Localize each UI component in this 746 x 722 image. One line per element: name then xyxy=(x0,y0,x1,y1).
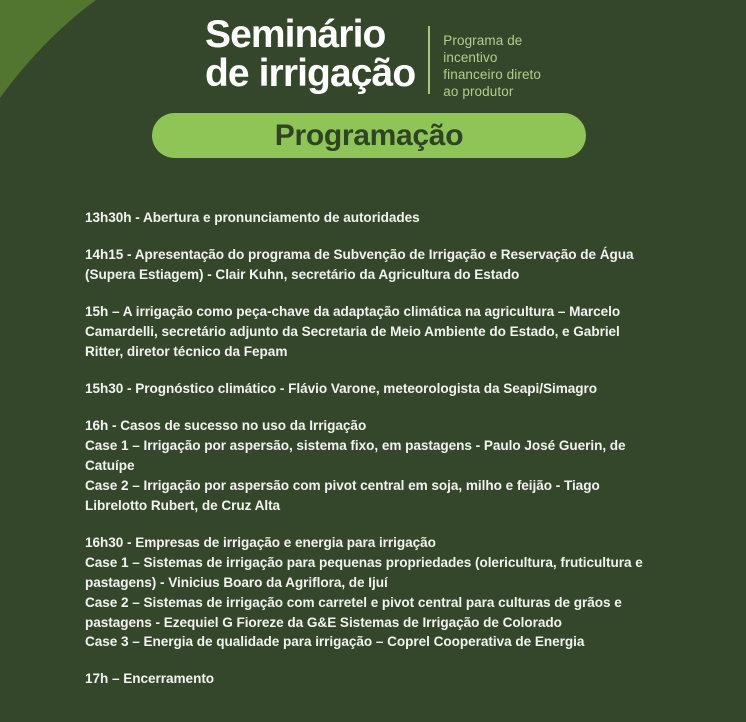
schedule-list: 13h30h - Abertura e pronunciamento de au… xyxy=(85,208,647,689)
schedule-block: 13h30h - Abertura e pronunciamento de au… xyxy=(85,208,647,228)
schedule-line: 15h – A irrigação como peça-chave da ada… xyxy=(85,302,647,362)
schedule-line: 16h - Casos de sucesso no uso da Irrigaç… xyxy=(85,416,647,436)
schedule-line: Case 1 – Sistemas de irrigação para pequ… xyxy=(85,553,647,593)
schedule-block: 16h - Casos de sucesso no uso da Irrigaç… xyxy=(85,416,647,516)
schedule-line: Case 2 – Sistemas de irrigação com carre… xyxy=(85,593,647,633)
schedule-block: 17h – Encerramento xyxy=(85,669,647,689)
schedule-line: 17h – Encerramento xyxy=(85,669,647,689)
schedule-block: 14h15 - Apresentação do programa de Subv… xyxy=(85,245,647,285)
title-divider xyxy=(428,26,430,94)
schedule-line: 16h30 - Empresas de irrigação e energia … xyxy=(85,533,647,553)
schedule-line: Case 2 – Irrigação por aspersão com pivo… xyxy=(85,476,647,516)
event-header: Seminário de irrigação Programa de incen… xyxy=(0,14,746,100)
event-header-inner: Seminário de irrigação Programa de incen… xyxy=(205,14,541,100)
schedule-line: Case 1 – Irrigação por aspersão, sistema… xyxy=(85,436,647,476)
programacao-banner: Programação xyxy=(152,113,586,158)
schedule-line: 14h15 - Apresentação do programa de Subv… xyxy=(85,245,647,285)
schedule-block: 16h30 - Empresas de irrigação e energia … xyxy=(85,533,647,653)
program-tagline: Programa de incentivo financeiro direto … xyxy=(443,14,541,100)
schedule-line: 13h30h - Abertura e pronunciamento de au… xyxy=(85,208,647,228)
event-title: Seminário de irrigação xyxy=(205,14,415,93)
programacao-label: Programação xyxy=(275,121,463,151)
schedule-block: 15h30 - Prognóstico climático - Flávio V… xyxy=(85,379,647,399)
schedule-block: 15h – A irrigação como peça-chave da ada… xyxy=(85,302,647,362)
schedule-line: Case 3 – Energia de qualidade para irrig… xyxy=(85,632,647,652)
schedule-line: 15h30 - Prognóstico climático - Flávio V… xyxy=(85,379,647,399)
